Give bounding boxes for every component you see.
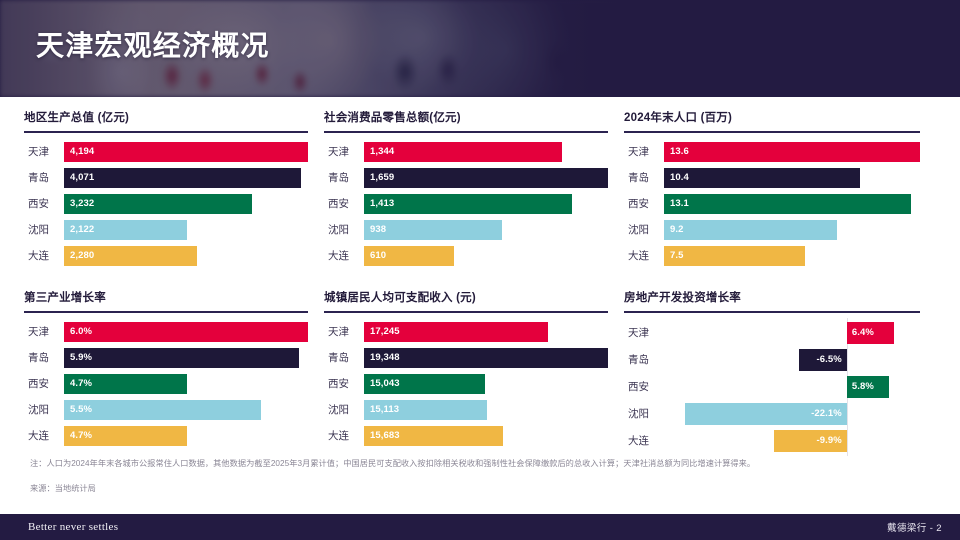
chart-title: 地区生产总值 (亿元) (24, 109, 308, 131)
bar-row: 沈阳938 (324, 220, 608, 240)
bar-category-label: 大连 (324, 428, 364, 443)
bar: 1,413 (364, 194, 572, 214)
bar: 9.2 (664, 220, 837, 240)
bar-value-label: 19,348 (364, 352, 400, 363)
bar-value-label: 10.4 (664, 172, 689, 183)
bar-value-label: 4.7% (64, 430, 92, 441)
bar-track: -9.9% (664, 430, 920, 452)
bar: 10.4 (664, 168, 860, 188)
bar-row: 天津6.0% (24, 322, 308, 342)
bar-row: 大连-9.9% (624, 430, 920, 452)
bar-value-label: 6.0% (64, 326, 92, 337)
bar-category-label: 青岛 (324, 350, 364, 365)
bar-category-label: 大连 (24, 248, 64, 263)
title-divider (624, 311, 920, 313)
bar-rows: 天津1,344青岛1,659西安1,413沈阳938大连610 (324, 142, 608, 266)
footer-page-indicator: 戴德梁行 - 2 (887, 520, 942, 534)
chart-panel-retail-sales: 社会消费品零售总额(亿元) 天津1,344青岛1,659西安1,413沈阳938… (324, 109, 624, 289)
bar-value-label: 2,280 (64, 250, 94, 261)
bar-category-label: 天津 (324, 144, 364, 159)
bar-category-label: 西安 (324, 196, 364, 211)
bar-track: 13.1 (664, 194, 920, 214)
bar-track: 6.4% (664, 322, 920, 344)
bar-value-label: 13.6 (664, 146, 689, 157)
bar-value-label: 1,659 (364, 172, 394, 183)
source-text: 来源：当地统计局 (30, 482, 942, 494)
bar: 2,280 (64, 246, 197, 266)
bar-row: 西安4.7% (24, 374, 308, 394)
chart-title: 房地产开发投资增长率 (624, 289, 920, 311)
bar-row: 天津6.4% (624, 322, 920, 344)
bar-rows: 天津13.6青岛10.4西安13.1沈阳9.2大连7.5 (624, 142, 920, 266)
bar-track: 4,071 (64, 168, 308, 188)
bar: -6.5% (799, 349, 847, 371)
bar-value-label: -6.5% (812, 354, 847, 365)
bar-row: 青岛1,659 (324, 168, 608, 188)
zero-axis-line (847, 399, 848, 429)
bar: -22.1% (685, 403, 847, 425)
bar: -9.9% (774, 430, 846, 452)
bar-track: 15,113 (364, 400, 608, 420)
bar-rows-diverging: 天津6.4%青岛-6.5%西安5.8%沈阳-22.1%大连-9.9% (624, 322, 920, 452)
title-divider (324, 131, 608, 133)
bar: 938 (364, 220, 502, 240)
bar: 5.8% (847, 376, 889, 398)
bar-row: 青岛4,071 (24, 168, 308, 188)
bar-category-label: 青岛 (624, 170, 664, 185)
bar-category-label: 沈阳 (324, 402, 364, 417)
bar-track: 1,413 (364, 194, 608, 214)
title-divider (624, 131, 920, 133)
bar-category-label: 天津 (624, 144, 664, 159)
bar: 15,043 (364, 374, 485, 394)
bar: 5.5% (64, 400, 261, 420)
bar-rows: 天津4,194青岛4,071西安3,232沈阳2,122大连2,280 (24, 142, 308, 266)
bar: 3,232 (64, 194, 252, 214)
bar-value-label: 15,043 (364, 378, 400, 389)
bar-row: 青岛19,348 (324, 348, 608, 368)
bar-category-label: 沈阳 (24, 402, 64, 417)
bar-value-label: 6.4% (847, 327, 879, 338)
bar: 15,113 (364, 400, 487, 420)
bar: 610 (364, 246, 454, 266)
bar-category-label: 青岛 (24, 350, 64, 365)
bar-value-label: 5.8% (847, 381, 879, 392)
bar-value-label: 1,344 (364, 146, 394, 157)
chart-panel-disposable-income: 城镇居民人均可支配收入 (元) 天津17,245青岛19,348西安15,043… (324, 289, 624, 469)
bar-row: 沈阳15,113 (324, 400, 608, 420)
bar-value-label: 4,194 (64, 146, 94, 157)
bar-category-label: 沈阳 (624, 222, 664, 237)
bar-value-label: 13.1 (664, 198, 689, 209)
bar-row: 西安5.8% (624, 376, 920, 398)
bar-row: 沈阳2,122 (24, 220, 308, 240)
bar-row: 天津13.6 (624, 142, 920, 162)
bar-value-label: -9.9% (812, 435, 847, 446)
bar-track: 9.2 (664, 220, 920, 240)
slide: 天津宏观经济概况 地区生产总值 (亿元) 天津4,194青岛4,071西安3,2… (0, 0, 960, 540)
bar-track: 15,683 (364, 426, 608, 446)
bar-row: 大连2,280 (24, 246, 308, 266)
bar-value-label: 5.5% (64, 404, 92, 415)
bar-track: 4.7% (64, 426, 308, 446)
bar-value-label: 610 (364, 250, 386, 261)
bar-row: 大连15,683 (324, 426, 608, 446)
bar: 5.9% (64, 348, 299, 368)
bar-value-label: 15,113 (364, 404, 399, 415)
bar-track: 6.0% (64, 322, 308, 342)
footnote-text: 注：人口为2024年年末各城市公报常住人口数据，其他数据为截至2025年3月累计… (30, 458, 942, 470)
bar-category-label: 大连 (24, 428, 64, 443)
slide-header: 天津宏观经济概况 (0, 0, 960, 97)
bar-row: 西安15,043 (324, 374, 608, 394)
bar-row: 西安13.1 (624, 194, 920, 214)
bar-category-label: 西安 (624, 196, 664, 211)
zero-axis-line (847, 426, 848, 456)
bar-value-label: 7.5 (664, 250, 684, 261)
chart-title: 2024年末人口 (百万) (624, 109, 920, 131)
bar: 4.7% (64, 426, 187, 446)
bar-track: 2,280 (64, 246, 308, 266)
bar-value-label: 17,245 (364, 326, 400, 337)
bar-value-label: 3,232 (64, 198, 94, 209)
bar: 6.4% (847, 322, 894, 344)
bar: 15,683 (364, 426, 503, 446)
bar-row: 大连7.5 (624, 246, 920, 266)
bar-track: -22.1% (664, 403, 920, 425)
slide-footer: Better never settles 戴德梁行 - 2 (0, 514, 960, 540)
bar: 13.6 (664, 142, 920, 162)
bar-value-label: 4.7% (64, 378, 92, 389)
footer-tagline: Better never settles (28, 521, 118, 533)
bar-track: 3,232 (64, 194, 308, 214)
bar-category-label: 大连 (624, 433, 664, 448)
bar-category-label: 天津 (624, 325, 664, 340)
header-fade-to-navy (560, 0, 720, 97)
bar-category-label: 天津 (324, 324, 364, 339)
bar-track: 2,122 (64, 220, 308, 240)
chart-title: 第三产业增长率 (24, 289, 308, 311)
bar-row: 西安1,413 (324, 194, 608, 214)
bar-track: 7.5 (664, 246, 920, 266)
bar-track: 4.7% (64, 374, 308, 394)
title-divider (324, 311, 608, 313)
bar-track: 17,245 (364, 322, 608, 342)
bar: 1,344 (364, 142, 562, 162)
bar-category-label: 沈阳 (24, 222, 64, 237)
bar: 2,122 (64, 220, 187, 240)
chart-panel-gdp: 地区生产总值 (亿元) 天津4,194青岛4,071西安3,232沈阳2,122… (24, 109, 324, 289)
zero-axis-line (847, 345, 848, 375)
page-title: 天津宏观经济概况 (36, 24, 270, 64)
bar-category-label: 西安 (324, 376, 364, 391)
bar-value-label: 4,071 (64, 172, 94, 183)
bar-value-label: 9.2 (664, 224, 684, 235)
title-divider (24, 311, 308, 313)
chart-title: 社会消费品零售总额(亿元) (324, 109, 608, 131)
bar-track: 4,194 (64, 142, 308, 162)
bar-value-label: -22.1% (806, 408, 847, 419)
bar-row: 沈阳5.5% (24, 400, 308, 420)
bar-track: 5.5% (64, 400, 308, 420)
bar-track: 610 (364, 246, 608, 266)
bar: 4,071 (64, 168, 301, 188)
title-divider (24, 131, 308, 133)
bar: 4.7% (64, 374, 187, 394)
bar-value-label: 15,683 (364, 430, 400, 441)
chart-panel-tertiary-growth: 第三产业增长率 天津6.0%青岛5.9%西安4.7%沈阳5.5%大连4.7% (24, 289, 324, 469)
bar-row: 青岛-6.5% (624, 349, 920, 371)
bar-category-label: 青岛 (24, 170, 64, 185)
bar: 7.5 (664, 246, 805, 266)
bar-row: 沈阳-22.1% (624, 403, 920, 425)
bar-row: 天津17,245 (324, 322, 608, 342)
bar-row: 沈阳9.2 (624, 220, 920, 240)
bar-category-label: 青岛 (624, 352, 664, 367)
bar-track: 15,043 (364, 374, 608, 394)
bar-track: 10.4 (664, 168, 920, 188)
notes-block: 注：人口为2024年年末各城市公报常住人口数据，其他数据为截至2025年3月累计… (30, 458, 942, 494)
charts-grid: 地区生产总值 (亿元) 天津4,194青岛4,071西安3,232沈阳2,122… (0, 97, 960, 452)
bar-category-label: 天津 (24, 324, 64, 339)
bar-row: 青岛5.9% (24, 348, 308, 368)
chart-panel-population: 2024年末人口 (百万) 天津13.6青岛10.4西安13.1沈阳9.2大连7… (624, 109, 936, 289)
bar-category-label: 沈阳 (624, 406, 664, 421)
bar: 4,194 (64, 142, 308, 162)
bar: 19,348 (364, 348, 608, 368)
bar-track: 5.9% (64, 348, 308, 368)
bar-category-label: 大连 (624, 248, 664, 263)
bar-rows: 天津17,245青岛19,348西安15,043沈阳15,113大连15,683 (324, 322, 608, 446)
bar-value-label: 1,413 (364, 198, 394, 209)
bar-rows: 天津6.0%青岛5.9%西安4.7%沈阳5.5%大连4.7% (24, 322, 308, 446)
bar-row: 西安3,232 (24, 194, 308, 214)
bar-value-label: 2,122 (64, 224, 94, 235)
bar: 17,245 (364, 322, 548, 342)
bar: 6.0% (64, 322, 308, 342)
bar-category-label: 沈阳 (324, 222, 364, 237)
bar-track: 5.8% (664, 376, 920, 398)
bar-track: 1,659 (364, 168, 608, 188)
chart-title: 城镇居民人均可支配收入 (元) (324, 289, 608, 311)
bar-category-label: 天津 (24, 144, 64, 159)
bar-track: 1,344 (364, 142, 608, 162)
bar-track: 938 (364, 220, 608, 240)
bar: 13.1 (664, 194, 911, 214)
bar-value-label: 938 (364, 224, 386, 235)
bar-value-label: 5.9% (64, 352, 92, 363)
bar-row: 大连4.7% (24, 426, 308, 446)
bar-track: 13.6 (664, 142, 920, 162)
bar-row: 天津1,344 (324, 142, 608, 162)
bar-category-label: 大连 (324, 248, 364, 263)
chart-panel-real-estate-investment: 房地产开发投资增长率 天津6.4%青岛-6.5%西安5.8%沈阳-22.1%大连… (624, 289, 936, 469)
bar-category-label: 西安 (24, 376, 64, 391)
bar-row: 大连610 (324, 246, 608, 266)
bar-track: 19,348 (364, 348, 608, 368)
bar-track: -6.5% (664, 349, 920, 371)
bar-category-label: 西安 (24, 196, 64, 211)
bar: 1,659 (364, 168, 608, 188)
bar-category-label: 西安 (624, 379, 664, 394)
bar-row: 天津4,194 (24, 142, 308, 162)
bar-category-label: 青岛 (324, 170, 364, 185)
bar-row: 青岛10.4 (624, 168, 920, 188)
